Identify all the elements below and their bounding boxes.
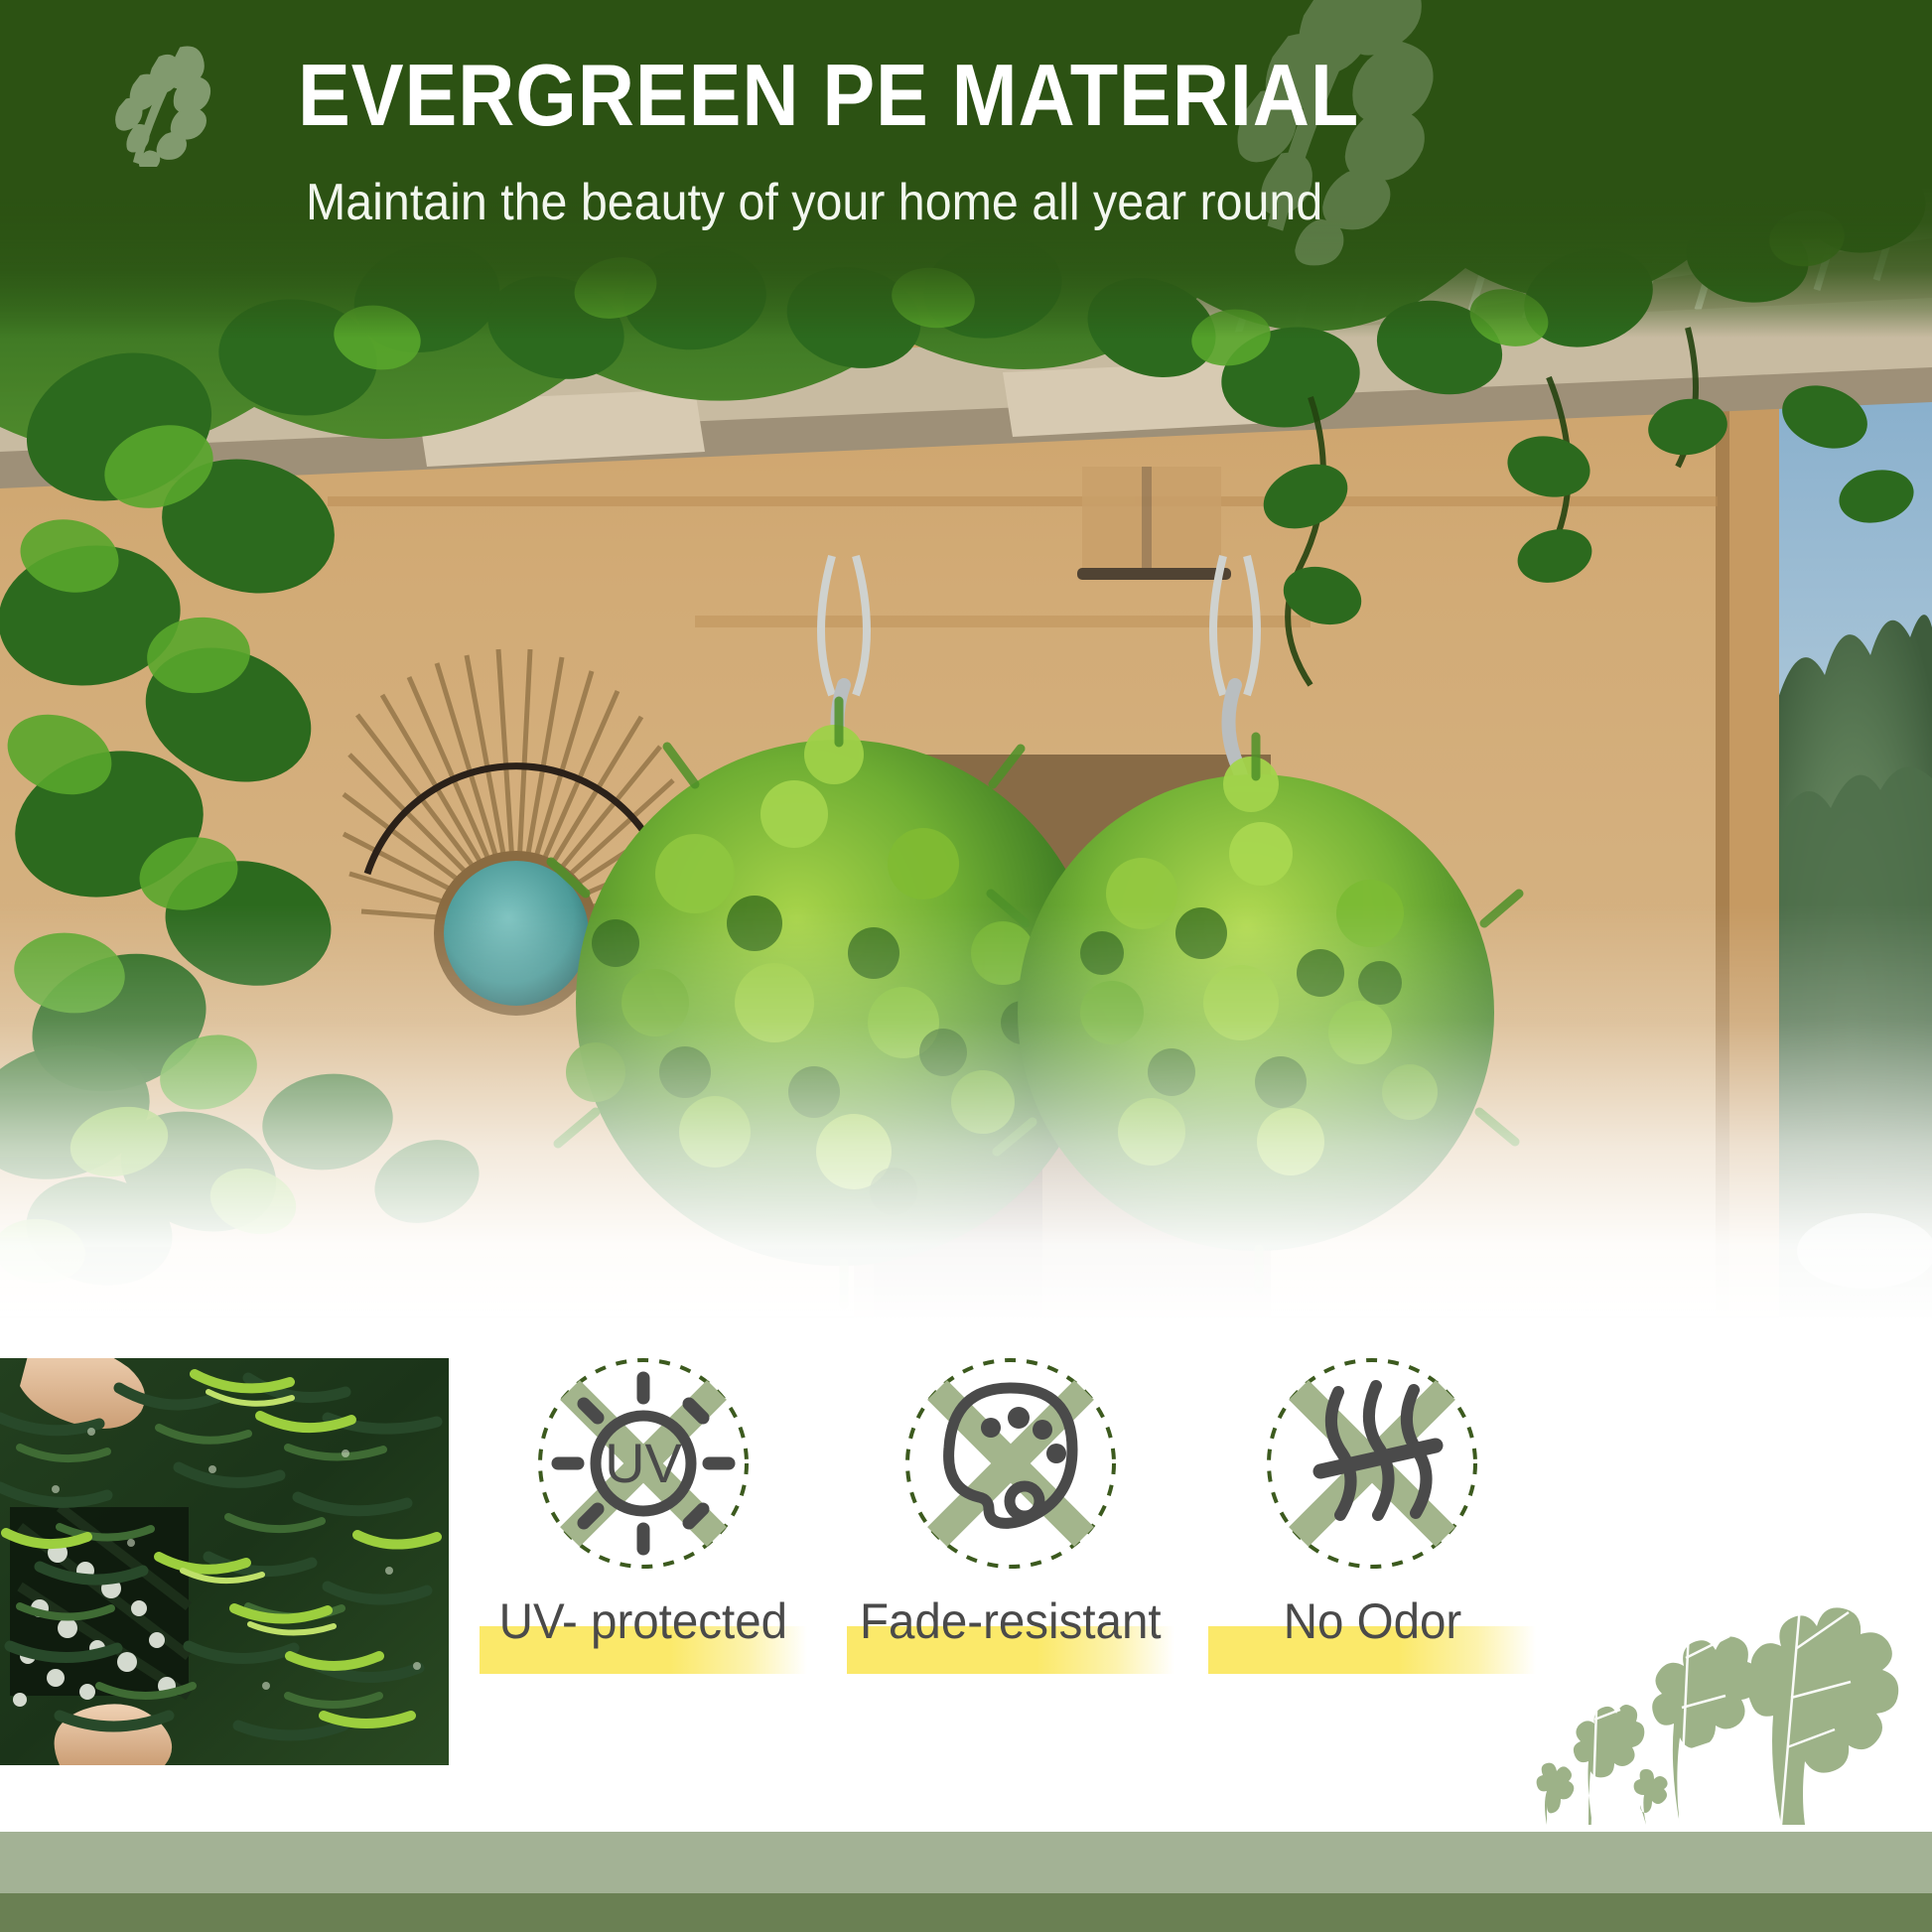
paint-palette-icon — [897, 1350, 1124, 1577]
closeup-inset-photo — [0, 1358, 449, 1765]
feature-label: No Odor — [1283, 1596, 1461, 1646]
footer-dark-bar — [0, 1893, 1932, 1932]
header-banner: EVERGREEN PE MATERIAL Maintain the beaut… — [0, 0, 1932, 338]
monstera-leaf-icon — [1219, 0, 1467, 288]
oak-leaves-decoration — [1531, 1509, 1932, 1827]
product-infographic: EVERGREEN PE MATERIAL Maintain the beaut… — [0, 0, 1932, 1932]
wall-bracket — [1077, 467, 1231, 580]
feature-uv-protected: UV UV- protected — [465, 1350, 822, 1682]
page-subtitle: Maintain the beauty of your home all yea… — [306, 177, 1322, 228]
background-trees — [1773, 615, 1932, 1320]
closeup-illustration — [0, 1358, 449, 1765]
page-title: EVERGREEN PE MATERIAL — [298, 52, 1359, 139]
monstera-leaf-icon — [107, 38, 224, 167]
feature-fade-resistant: Fade-resistant — [832, 1350, 1189, 1682]
uv-icon-text: UV — [605, 1432, 682, 1494]
feature-label: UV- protected — [499, 1596, 787, 1646]
footer-sage-bar — [0, 1832, 1932, 1893]
feature-label: Fade-resistant — [860, 1596, 1162, 1646]
odor-waves-icon — [1259, 1350, 1485, 1577]
uv-sun-icon: UV — [530, 1350, 757, 1577]
feature-no-odor: No Odor — [1193, 1350, 1551, 1682]
